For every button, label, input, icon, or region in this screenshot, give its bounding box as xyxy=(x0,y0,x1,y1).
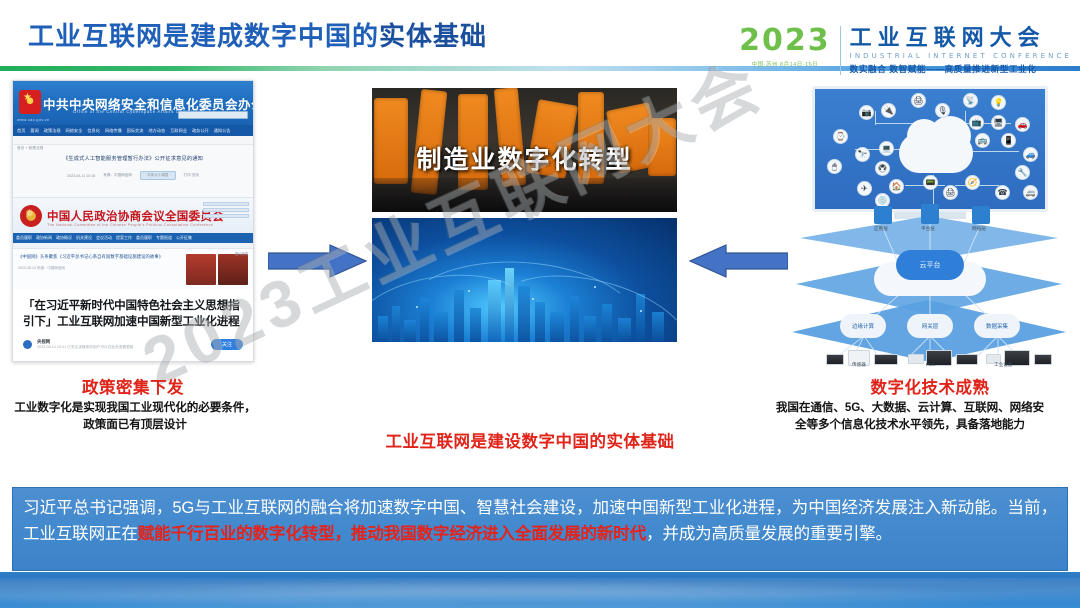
gov-site-nav[interactable]: 首页 要闻 政策法规 网络安全 信息化 网络传播 国际交流 地方动态 互联网业 … xyxy=(13,125,253,136)
iot-node-telephone-icon[interactable]: ☎ xyxy=(995,185,1010,200)
iot-node-tv-icon[interactable]: 📺 xyxy=(969,115,984,130)
layer-top-label: 网络层 xyxy=(972,226,986,232)
logo-year-block: 2023 中国·苏州 8月14日-16日 xyxy=(739,26,840,68)
gov-nav-item[interactable]: 政务公开 xyxy=(192,128,209,134)
gov-nav-item[interactable]: 互联网业 xyxy=(170,128,187,134)
gov-breadcrumb: 首页 > 政策法规 xyxy=(13,136,253,145)
gov-nav-item[interactable]: 通知公告 xyxy=(214,128,231,134)
cppcc-thumbnail-label: 图片新闻 xyxy=(235,251,248,256)
edge-cloud-node: 边缘计算 xyxy=(840,314,886,338)
gov-nav-item[interactable]: 网络安全 xyxy=(66,128,83,134)
device-icon xyxy=(874,354,898,365)
iot-node-phone-icon[interactable]: 📱 xyxy=(1001,133,1016,148)
iot-node-mouse-icon[interactable]: 🖱 xyxy=(827,159,842,174)
left-caption-line2: 政策面已有顶层设计 xyxy=(4,417,266,434)
logo-year: 2023 xyxy=(739,26,831,56)
device-icon xyxy=(826,354,844,365)
cppcc-nav-item[interactable]: 公开征集 xyxy=(176,235,192,241)
logo-name-block: 工业互联网大会 INDUSTRIAL INTERNET CONFERENCE 数… xyxy=(850,26,1072,75)
iot-node-bus-icon[interactable]: 🚌 xyxy=(975,133,990,148)
cppcc-nav-item[interactable]: 政协概况 xyxy=(56,235,72,241)
layer-icon-server xyxy=(874,206,892,224)
network-node-dot xyxy=(640,310,642,312)
gov-nav-item[interactable]: 网络传播 xyxy=(105,128,122,134)
cppcc-site-title-en: The National Committee of the Chinese Pe… xyxy=(47,222,213,227)
device-icon xyxy=(908,354,924,364)
gov-nav-item[interactable]: 地方动态 xyxy=(148,128,165,134)
collect-cloud-label: 数据采集 xyxy=(986,322,1008,330)
gov-article-headline: 《生成式人工智能服务管理暂行办法》公开征求意见的通知 xyxy=(21,155,245,162)
gov-nav-item[interactable]: 首页 xyxy=(17,128,25,134)
left-caption-body: 工业数字化是实现我国工业现代化的必要条件， 政策面已有顶层设计 xyxy=(4,400,266,434)
gov-fontsize-button[interactable]: 字体大小调整 xyxy=(140,171,176,180)
iot-node-pager-icon[interactable]: 📟 xyxy=(923,175,938,190)
banner-segment-3: ，并成为高质量发展的重要引擎。 xyxy=(646,524,892,543)
iot-node-car-icon[interactable]: 🚗 xyxy=(1015,117,1030,132)
device-group-label: 工业设备 xyxy=(994,362,1012,368)
right-caption-heading: 数字化技术成熟 xyxy=(790,374,1070,398)
cppcc-news-meta: 2023-08-14 来源：中国网信网 xyxy=(18,266,186,271)
gov-article-source: 来源：中国网信网 xyxy=(103,173,132,178)
cppcc-nav-item[interactable]: 提案工作 xyxy=(116,235,132,241)
device-group-label: 传感器 xyxy=(852,362,866,368)
platform-cloud-icon: 云平台 xyxy=(896,250,964,280)
iot-node-wrench-icon[interactable]: 🔧 xyxy=(1015,165,1030,180)
device-group-label: PLC xyxy=(926,362,935,367)
cppcc-nav-item[interactable]: 会议活动 xyxy=(96,235,112,241)
cppcc-news-link[interactable]: 《中国网》头条聚焦《习近平总书记心系自有国数字基础设施建设的故事》 xyxy=(18,254,186,260)
gov-nav-item[interactable]: 要闻 xyxy=(30,128,38,134)
cppcc-header-widgets[interactable] xyxy=(203,202,249,220)
iot-node-camera-icon[interactable]: 📷 xyxy=(859,105,874,120)
iot-node-plane-icon[interactable]: ✈ xyxy=(857,181,872,196)
logo-divider xyxy=(840,26,841,75)
iot-node-suv-icon[interactable]: 🚙 xyxy=(1023,147,1038,162)
gov-nav-item[interactable]: 政策法规 xyxy=(44,128,61,134)
layered-architecture: 应用层 平台层 网络层 云平台 边缘计算 网关层 数据采集 xyxy=(790,214,1070,364)
digital-city-photo xyxy=(372,218,677,342)
cppcc-site-nav[interactable]: 委员履职 政协新闻 政协概况 机关建设 会议活动 提案工作 委员履职 专题报道 … xyxy=(13,233,253,243)
right-caption-line1: 我国在通信、5G、大数据、云计算、互联网、网络安 xyxy=(742,400,1078,417)
iot-node-home-icon[interactable]: 🏠 xyxy=(889,179,904,194)
cppcc-widget-row[interactable] xyxy=(203,208,249,212)
iot-node-trackball-icon[interactable]: 🖲 xyxy=(875,161,890,176)
news-article-footer: 央视网 2023-08-14 10:41 已关注该媒体的用户可以在此处查看更新 … xyxy=(23,339,243,350)
iot-node-plug-icon[interactable]: 🔌 xyxy=(881,103,896,118)
device-icon xyxy=(956,354,978,365)
iot-architecture-diagram: 📷 🔌 🖨 🎙 📡 💡 🚗 🖥 📱 🚙 📺 🔭 🚌 💻 🖲 ⌚ 🖱 🏠 ✈ 📟 … xyxy=(790,86,1070,364)
photo-bottom-shade xyxy=(372,178,677,212)
summary-banner-text: 习近平总书记强调，5G与工业互联网的融合将加速数字中国、智慧社会建设，加速中国新… xyxy=(23,495,1057,546)
iot-node-mic-icon[interactable]: 🎙 xyxy=(935,103,950,118)
cppcc-photo-thumbnails xyxy=(186,254,248,285)
bottom-decorative-strip xyxy=(0,572,1080,608)
logo-name-cn: 工业互联网大会 xyxy=(850,26,1072,49)
collect-cloud-node: 数据采集 xyxy=(974,314,1020,338)
news-article-title: 「在习近平新时代中国特色社会主义思想指引下」工业互联网加速中国新型工业化进程 xyxy=(23,298,243,330)
news-author-block: 央视网 2023-08-14 10:41 已关注该媒体的用户可以在此处查看更新 xyxy=(37,339,134,350)
gov-article-body: 《生成式人工智能服务管理暂行办法》公开征求意见的通知 2023-04-11 10… xyxy=(13,145,253,197)
iot-node-compass-icon[interactable]: 🧭 xyxy=(965,175,980,190)
cppcc-link-column: 《中国网》头条聚焦《习近平总书记心系自有国数字基础设施建设的故事》 2023-0… xyxy=(18,254,186,285)
center-caption: 工业互联网是建设数字中国的实体基础 xyxy=(330,428,730,452)
layer-top-label: 平台层 xyxy=(921,226,935,232)
gov-site-url: www.cac.gov.cn xyxy=(17,117,50,122)
party-emblem-icon xyxy=(19,90,41,114)
manufacturing-photo-caption: 制造业数字化转型 xyxy=(372,140,677,176)
news-timestamp: 2023-08-14 10:41 已关注该媒体的用户可以在此处查看更新 xyxy=(37,345,134,350)
cppcc-thumbnail[interactable] xyxy=(218,254,248,285)
cppcc-content-row: 《中国网》头条聚焦《习近平总书记心系自有国数字基础设施建设的故事》 2023-0… xyxy=(13,249,253,289)
cppcc-nav-item[interactable]: 专题报道 xyxy=(156,235,172,241)
summary-banner: 习近平总书记强调，5G与工业互联网的融合将加速数字中国、智慧社会建设，加速中国新… xyxy=(12,487,1068,571)
logo-date-location: 中国·苏州 8月14日-16日 xyxy=(739,60,831,68)
iot-node-antenna-icon[interactable]: 📡 xyxy=(963,93,978,108)
iot-link xyxy=(967,151,1019,152)
cppcc-nav-item[interactable]: 政协新闻 xyxy=(36,235,52,241)
gov-search-input[interactable] xyxy=(178,111,248,119)
page-title: 工业互联网是建成数字中国的实体基础 xyxy=(28,16,487,53)
layer-top-label: 应用层 xyxy=(874,226,888,232)
conference-logo: 2023 中国·苏州 8月14日-16日 工业互联网大会 INDUSTRIAL … xyxy=(739,26,1072,75)
right-caption-line2: 全等多个信息化技术水平领先，具备落地能力 xyxy=(742,417,1078,434)
gov-nav-item[interactable]: 国际交流 xyxy=(127,128,144,134)
logo-slogan: 数实融合 数智赋能——高质量推进新型工业化 xyxy=(850,63,1072,75)
iot-link xyxy=(875,123,915,124)
logo-name-en: INDUSTRIAL INTERNET CONFERENCE xyxy=(850,52,1072,60)
gov-article-date: 2023-04-11 10:18 xyxy=(67,174,95,178)
arrow-left-icon xyxy=(688,243,788,279)
cppcc-widget-row[interactable] xyxy=(203,202,249,206)
iot-cloud-screen: 📷 🔌 🖨 🎙 📡 💡 🚗 🖥 📱 🚙 📺 🔭 🚌 💻 🖲 ⌚ 🖱 🏠 ✈ 📟 … xyxy=(812,86,1048,212)
iot-node-printer2-icon[interactable]: 🖨 xyxy=(943,185,958,200)
network-node-dot xyxy=(468,290,470,292)
gateway-cloud-node: 网关层 xyxy=(907,314,953,338)
network-node-dot xyxy=(416,306,418,308)
arrow-right-icon xyxy=(268,243,368,279)
network-node-dot xyxy=(532,298,534,300)
gov-article-meta: 2023-04-11 10:18 来源：中国网信网 字体大小调整 打印 关闭 xyxy=(21,171,245,180)
slide-root: 工业互联网是建成数字中国的实体基础 2023 中国·苏州 8月14日-16日 工… xyxy=(0,0,1080,608)
page-title-emphasis: 实体基础 xyxy=(379,21,487,51)
banner-highlight: 赋能千行百业的数字化转型，推动我国数字经济进入全面发展的新时代 xyxy=(138,524,646,543)
follow-button[interactable]: 关注 xyxy=(211,339,243,350)
device-icon xyxy=(1034,354,1052,365)
gov-article-actions[interactable]: 打印 关闭 xyxy=(184,173,199,178)
iot-node-watch-icon[interactable]: ⌚ xyxy=(833,129,848,144)
iot-node-monitor-icon[interactable]: 🖥 xyxy=(991,115,1006,130)
cppcc-thumbnail[interactable] xyxy=(186,254,216,285)
gov-site-header: 中共中央网络安全和信息化委员会办公室 Office of the Central… xyxy=(13,81,253,125)
iot-node-bulb-icon[interactable]: 💡 xyxy=(991,95,1006,110)
iot-node-printer-icon[interactable]: 🖨 xyxy=(911,93,926,108)
cppcc-emblem-icon xyxy=(20,205,42,227)
cppcc-site-header: 中国人民政治协商会议全国委员会 The National Committee o… xyxy=(13,197,253,233)
network-node-dot xyxy=(594,286,596,288)
gateway-cloud-label: 网关层 xyxy=(922,322,939,330)
cppcc-widget-row[interactable] xyxy=(203,214,249,218)
right-caption-body: 我国在通信、5G、大数据、云计算、互联网、网络安 全等多个信息化技术水平领先，具… xyxy=(742,400,1078,434)
avatar xyxy=(23,340,32,349)
page-title-prefix: 工业互联网是建成数字中国的 xyxy=(28,21,379,51)
cloud-icon xyxy=(899,133,973,173)
layer-icon-building xyxy=(921,204,939,224)
cppcc-nav-item[interactable]: 委员履职 xyxy=(16,235,32,241)
cppcc-nav-item[interactable]: 委员履职 xyxy=(136,235,152,241)
gov-nav-item[interactable]: 信息化 xyxy=(87,128,100,134)
layer-icon-building xyxy=(972,206,990,224)
iot-node-van-icon[interactable]: 🚐 xyxy=(1023,185,1038,200)
iot-node-laptop-icon[interactable]: 💻 xyxy=(879,141,894,156)
left-caption-heading: 政策密集下发 xyxy=(12,374,254,398)
platform-cloud-label: 云平台 xyxy=(920,260,941,270)
policy-screenshot-panel: 中共中央网络安全和信息化委员会办公室 Office of the Central… xyxy=(12,80,254,362)
iot-node-scope-icon[interactable]: 🔭 xyxy=(855,147,870,162)
cppcc-nav-item[interactable]: 机关建设 xyxy=(76,235,92,241)
manufacturing-photo: 制造业数字化转型 xyxy=(372,88,677,212)
iot-link xyxy=(875,111,876,125)
edge-cloud-label: 边缘计算 xyxy=(852,322,874,330)
news-article-card: 「在习近平新时代中国特色社会主义思想指引下」工业互联网加速中国新型工业化进程 央… xyxy=(13,289,253,358)
left-caption-line1: 工业数字化是实现我国工业现代化的必要条件， xyxy=(4,400,266,417)
gov-breadcrumb-text: 首页 > 政策法规 xyxy=(13,146,43,151)
